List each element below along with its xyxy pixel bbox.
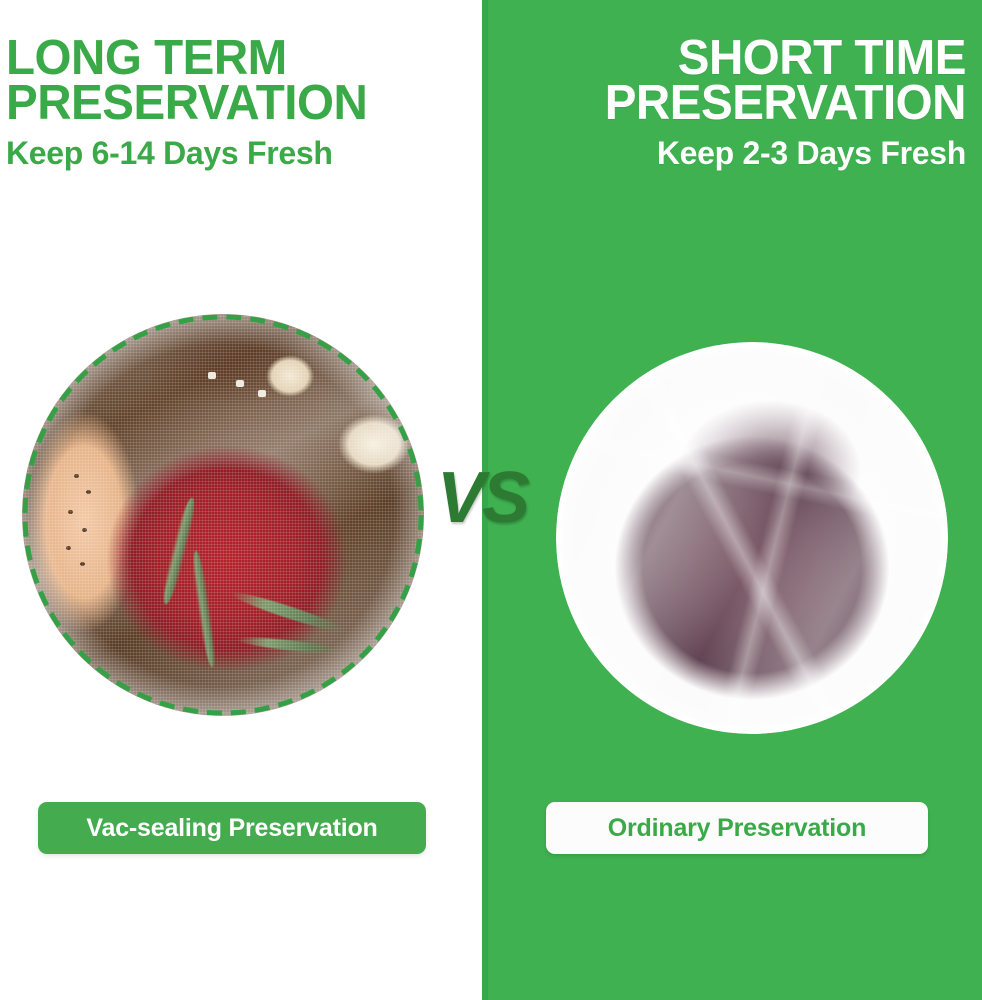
pepper-fleck-icon: [86, 490, 91, 494]
pepper-fleck-icon: [66, 546, 71, 550]
left-headline-line-2: PRESERVATION: [6, 81, 423, 126]
left-heading-block: LONG TERM PRESERVATION Keep 6-14 Days Fr…: [6, 36, 436, 171]
right-photo-circle: [556, 342, 948, 734]
pepper-fleck-icon: [82, 528, 87, 532]
rosemary-sprig-icon: [229, 588, 347, 636]
left-caption-label: Vac-sealing Preservation: [86, 814, 377, 843]
rosemary-sprig-icon: [190, 550, 218, 669]
pepper-fleck-icon: [68, 510, 73, 514]
right-headline-line-2: PRESERVATION: [543, 81, 966, 126]
ordinary-stored-meat-image: [556, 342, 948, 734]
left-headline: LONG TERM PRESERVATION: [6, 36, 423, 126]
salt-fleck-icon: [236, 380, 244, 387]
salt-fleck-icon: [258, 390, 266, 397]
rosemary-sprig-icon: [236, 635, 340, 656]
pepper-fleck-icon: [80, 562, 85, 566]
left-photo-circle: [22, 314, 424, 716]
right-headline: SHORT TIME PRESERVATION: [543, 36, 966, 126]
vs-badge: VS: [437, 462, 527, 534]
right-headline-line-1: SHORT TIME: [543, 36, 966, 81]
left-caption-pill: Vac-sealing Preservation: [38, 802, 426, 854]
pepper-fleck-icon: [74, 474, 79, 478]
right-subheadline: Keep 2-3 Days Fresh: [530, 136, 966, 171]
right-caption-label: Ordinary Preservation: [608, 814, 866, 843]
left-photo-edge-fade: [22, 314, 424, 716]
left-subheadline: Keep 6-14 Days Fresh: [6, 136, 436, 171]
vacuum-sealed-food-image: [22, 314, 424, 716]
rosemary-sprig-icon: [159, 496, 199, 606]
salt-fleck-icon: [208, 372, 216, 379]
left-headline-line-1: LONG TERM: [6, 36, 423, 81]
preservation-comparison-poster: LONG TERM PRESERVATION Keep 6-14 Days Fr…: [0, 0, 982, 1000]
right-heading-block: SHORT TIME PRESERVATION Keep 2-3 Days Fr…: [530, 36, 966, 171]
right-caption-pill: Ordinary Preservation: [546, 802, 928, 854]
right-photo-edge-fade: [556, 342, 948, 734]
